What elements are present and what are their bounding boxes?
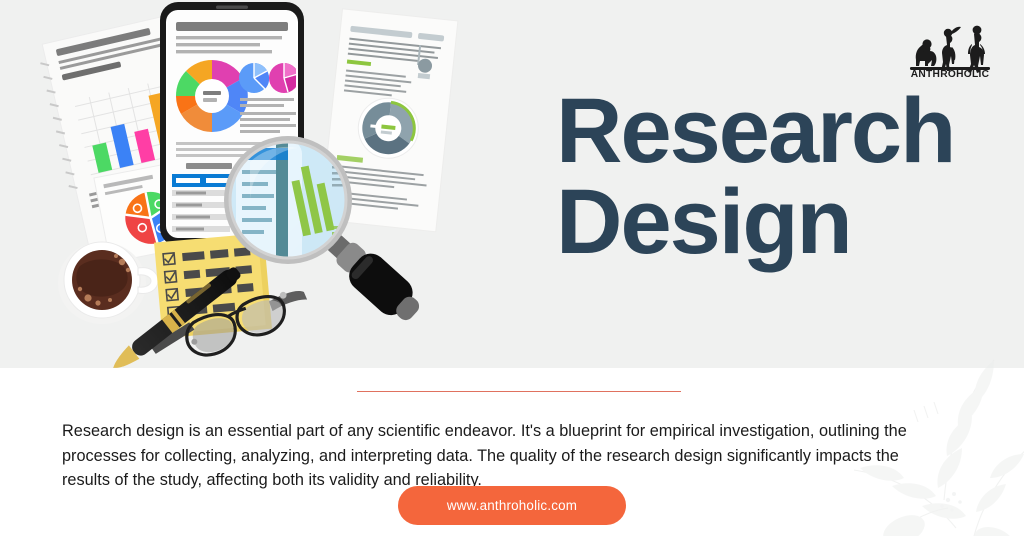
- donut-chart: [176, 60, 248, 132]
- research-design-banner: ANTHROHOLIC: [0, 0, 1024, 536]
- anthroholic-logo[interactable]: ANTHROHOLIC: [902, 16, 998, 78]
- page-title: Research Design: [556, 86, 986, 268]
- logo-wordmark: ANTHROHOLIC: [911, 69, 990, 78]
- mini-pie-magenta: [269, 63, 299, 93]
- headline-line-1: Research: [556, 80, 954, 182]
- description-paragraph: Research design is an essential part of …: [62, 419, 914, 493]
- website-cta-button[interactable]: www.anthroholic.com: [398, 486, 626, 525]
- headline-line-2: Design: [556, 177, 986, 268]
- research-illustration: [40, 0, 470, 368]
- mini-pie-blue: [239, 63, 269, 93]
- section-divider: [357, 391, 681, 392]
